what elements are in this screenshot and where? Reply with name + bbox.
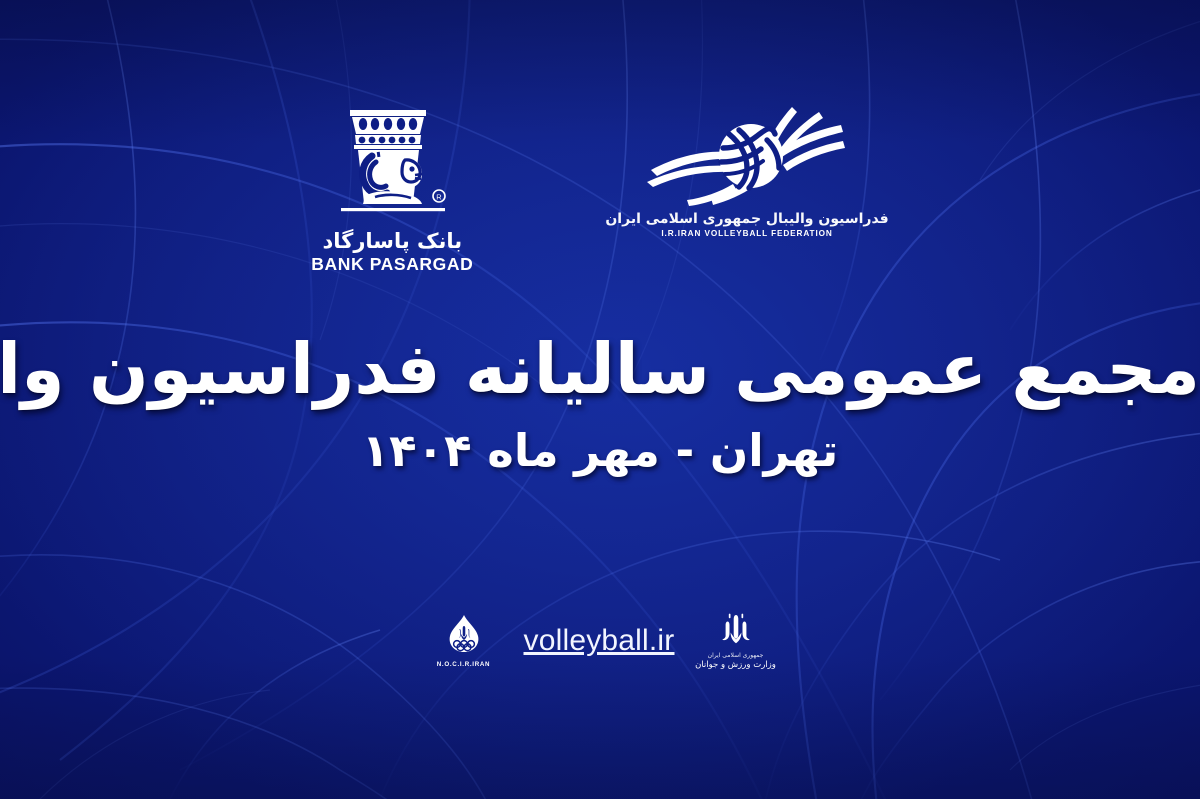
sponsor-logo-row: R بانک پاسارگاد BANK PASARGAD [311, 104, 888, 274]
page-subtitle: تهران - مهر ماه ۱۴۰۴ [0, 426, 1200, 476]
bank-name-fa: بانک پاسارگاد [322, 231, 462, 252]
page-title: مجمع عمومی ساليانه فدراسیون واليبال [0, 330, 1200, 408]
banner-content: R بانک پاسارگاد BANK PASARGAD [0, 0, 1200, 799]
volleyball-swoosh-icon [647, 104, 847, 208]
federation-name-fa: فدراسیون والیبال جمهوری اسلامی ایران [605, 212, 888, 226]
event-banner: R بانک پاسارگاد BANK PASARGAD [0, 0, 1200, 799]
federation-name-en: I.R.IRAN VOLLEYBALL FEDERATION [661, 230, 832, 238]
bank-name-en: BANK PASARGAD [311, 256, 473, 274]
bank-pasargad-logo: R بانک پاسارگاد BANK PASARGAD [311, 104, 473, 274]
headline-block: مجمع عمومی ساليانه فدراسیون واليبال تهرا… [0, 330, 1200, 476]
persepolis-column-lion-icon: R [327, 104, 457, 229]
federation-logo: فدراسیون والیبال جمهوری اسلامی ایران I.R… [605, 104, 888, 238]
svg-text:R: R [437, 193, 443, 202]
